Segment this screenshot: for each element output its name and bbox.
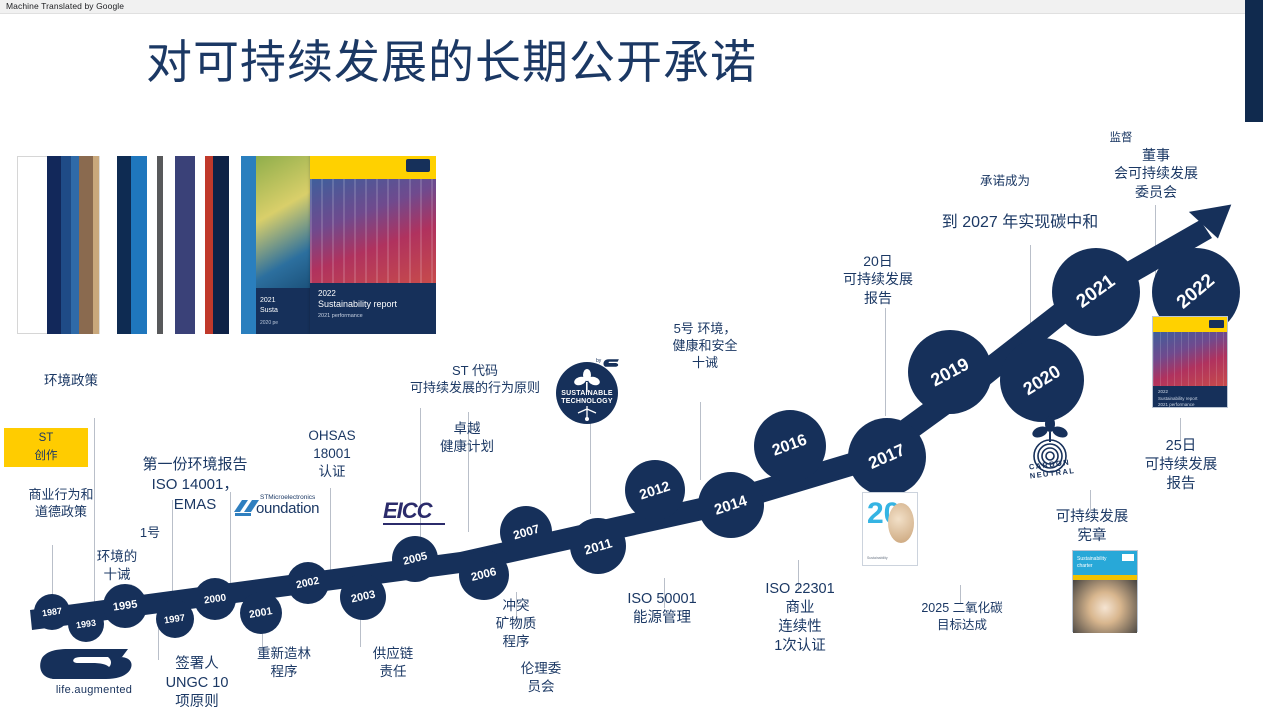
timeline-node-label: 2005 xyxy=(402,550,429,568)
mini-cover-photo xyxy=(1073,577,1137,633)
mini-report-cover-2022: 2022 Sustainability report 2021 performa… xyxy=(1152,316,1228,408)
machine-translation-label: Machine Translated by Google xyxy=(6,1,124,11)
label-ohsas-18001: OHSAS 18001 认证 xyxy=(295,427,369,480)
page-title: 对可持续发展的长期公开承诺 xyxy=(146,38,757,86)
label-board-sustainability-committee: 董事 会可持续发展 委员会 xyxy=(1092,146,1220,201)
label-environmental-ten-commandments: 环境的 十诫 xyxy=(70,548,164,584)
timeline-node-1987: 1987 xyxy=(34,594,70,630)
timeline-node-2005: 2005 xyxy=(392,536,438,582)
timeline-node-2021: 2021 xyxy=(1052,248,1140,336)
label-conflict-minerals-program: 冲突 矿物质 程序 xyxy=(480,597,552,650)
timeline-node-label: 1993 xyxy=(75,618,96,631)
label-20th-sustainability-report: 20日 可持续发展 报告 xyxy=(826,252,930,307)
label-business-ethics-policy: 商业行为和 道德政策 xyxy=(6,486,116,520)
st-logo-icon xyxy=(34,648,144,688)
timeline-node-label: 2000 xyxy=(203,592,227,606)
machine-translation-banner: Machine Translated by Google xyxy=(0,0,1263,14)
timeline-node-2016: 2016 xyxy=(754,410,826,482)
st-logo-icon xyxy=(406,159,430,172)
timeline-node-label: 2011 xyxy=(582,535,613,557)
sustainable-technology-line2: TECHNOLOGY xyxy=(558,398,616,405)
sustainable-technology-line1: SUSTAINABLE xyxy=(558,390,616,397)
timeline-node-label: 1987 xyxy=(41,606,62,619)
mini-report-cover-20: 20 Sustainability xyxy=(862,492,918,566)
sustainable-technology-logo: SUSTAINABLE TECHNOLOGY by xyxy=(556,358,624,426)
timeline-node-1995: 1995 xyxy=(103,584,147,628)
mini-cover-caption: 2022 Sustainability report 2021 performa… xyxy=(1158,389,1198,409)
label-co2-target-2025: 2025 二氧化碳 目标达成 xyxy=(900,600,1024,633)
timeline-node-2011: 2011 xyxy=(570,518,626,574)
mini-cover-caption: Sustainability xyxy=(867,556,888,560)
st-foundation-name: oundation xyxy=(256,500,319,517)
timeline-node-2020: 2020 xyxy=(1000,338,1084,422)
timeline-node-label: 2001 xyxy=(248,605,273,621)
timeline-node-2007: 2007 xyxy=(500,506,552,558)
label-environmental-policy: 环境政策 xyxy=(16,372,126,390)
timeline-node-2012: 2012 xyxy=(625,460,685,520)
timeline-node-label: 2020 xyxy=(1019,360,1064,399)
label-no1: 1号 xyxy=(110,524,190,541)
timeline-node-2003: 2003 xyxy=(340,574,386,620)
timeline-node-label: 2019 xyxy=(927,353,972,390)
timeline-node-2006: 2006 xyxy=(459,550,509,600)
label-excellence-health-plan: 卓越 健康计划 xyxy=(418,420,516,456)
st-foundation-logo: STMicroelectronics oundation xyxy=(232,494,342,520)
timeline-node-label: 2003 xyxy=(350,589,376,606)
mini-cover-accent xyxy=(1073,575,1137,580)
mini-cover-photo xyxy=(1153,332,1227,386)
cover-yellow-band xyxy=(310,156,436,179)
timeline-node-2002: 2002 xyxy=(287,562,329,604)
label-iso-22301: ISO 22301 商业 连续性 1次认证 xyxy=(740,580,860,657)
st-logo-icon xyxy=(602,358,622,368)
label-commit-to-become: 承诺成为 xyxy=(955,173,1055,190)
slide-canvas: Machine Translated by Google 对可持续发展的长期公开… xyxy=(0,0,1263,707)
timeline-node-label: 2012 xyxy=(638,478,673,503)
label-supervision: 监督 xyxy=(1096,131,1146,146)
timeline-node-label: 2014 xyxy=(713,492,750,518)
timeline-node-label: 2007 xyxy=(511,522,541,543)
mini-report-cover-charter: Sustainability charter xyxy=(1072,550,1138,632)
timeline-node-label: 2016 xyxy=(770,431,810,460)
label-25th-sustainability-report: 25日 可持续发展 报告 xyxy=(1122,437,1240,494)
label-ungc-10-principles: 签署人 UNGC 10 项原则 xyxy=(145,655,249,707)
st-tagline: life.augmented xyxy=(34,684,154,696)
st-logo: life.augmented xyxy=(34,648,154,704)
timeline-node-label: 2021 xyxy=(1072,271,1119,314)
timeline-node-label: 2002 xyxy=(295,575,320,592)
label-sustainability-charter: 可持续发展 宪章 xyxy=(1035,508,1149,546)
timeline-node-label: 2017 xyxy=(866,440,909,474)
mini-cover-photo xyxy=(888,503,914,543)
mini-cover-caption: Sustainability charter xyxy=(1077,556,1106,569)
carbon-neutral-logo: CARBON NEUTRAL xyxy=(1014,412,1086,484)
st-logo-icon xyxy=(1209,320,1224,328)
mini-cover-yellow-band xyxy=(1153,317,1227,332)
timeline-node-2014: 2014 xyxy=(698,472,764,538)
label-iso-50001: ISO 50001 能源管理 xyxy=(606,590,718,628)
timeline-node-1993: 1993 xyxy=(68,606,104,642)
eicc-wordmark: EICC xyxy=(383,498,445,524)
st-creation-badge: ST 创作 xyxy=(4,428,88,467)
timeline-node-label: 1995 xyxy=(112,598,138,613)
st-creation-line1: ST xyxy=(4,432,88,444)
timeline-node-1997: 1997 xyxy=(156,600,194,638)
label-st-code: ST 代码 可持续发展的行为原则 xyxy=(396,362,554,396)
sustainable-technology-by: by xyxy=(596,358,601,364)
label-no5-ehs: 5号 环境， 健康和安全 十诫 xyxy=(650,320,760,371)
timeline-node-label: 2006 xyxy=(470,566,498,584)
timeline-node-label: 2022 xyxy=(1173,270,1220,314)
timeline-node-2017: 2017 xyxy=(848,418,926,496)
timeline-node-2000: 2000 xyxy=(194,578,236,620)
timeline-node-2019: 2019 xyxy=(908,330,992,414)
label-carbon-neutral-2027: 到 2027 年实现碳中和 xyxy=(930,212,1110,233)
timeline-node-2001: 2001 xyxy=(240,592,282,634)
st-creation-line2: 创作 xyxy=(4,447,88,463)
label-supply-chain-responsibility: 供应链 责任 xyxy=(348,645,438,681)
timeline-node-label: 1997 xyxy=(164,612,186,626)
eicc-logo: EICC xyxy=(383,498,445,524)
right-accent-bar xyxy=(1245,0,1263,122)
label-ethics-committee: 伦理委 员会 xyxy=(506,660,576,696)
st-logo-icon xyxy=(1122,554,1134,561)
label-reforestation-program: 重新造林 程序 xyxy=(238,645,330,681)
